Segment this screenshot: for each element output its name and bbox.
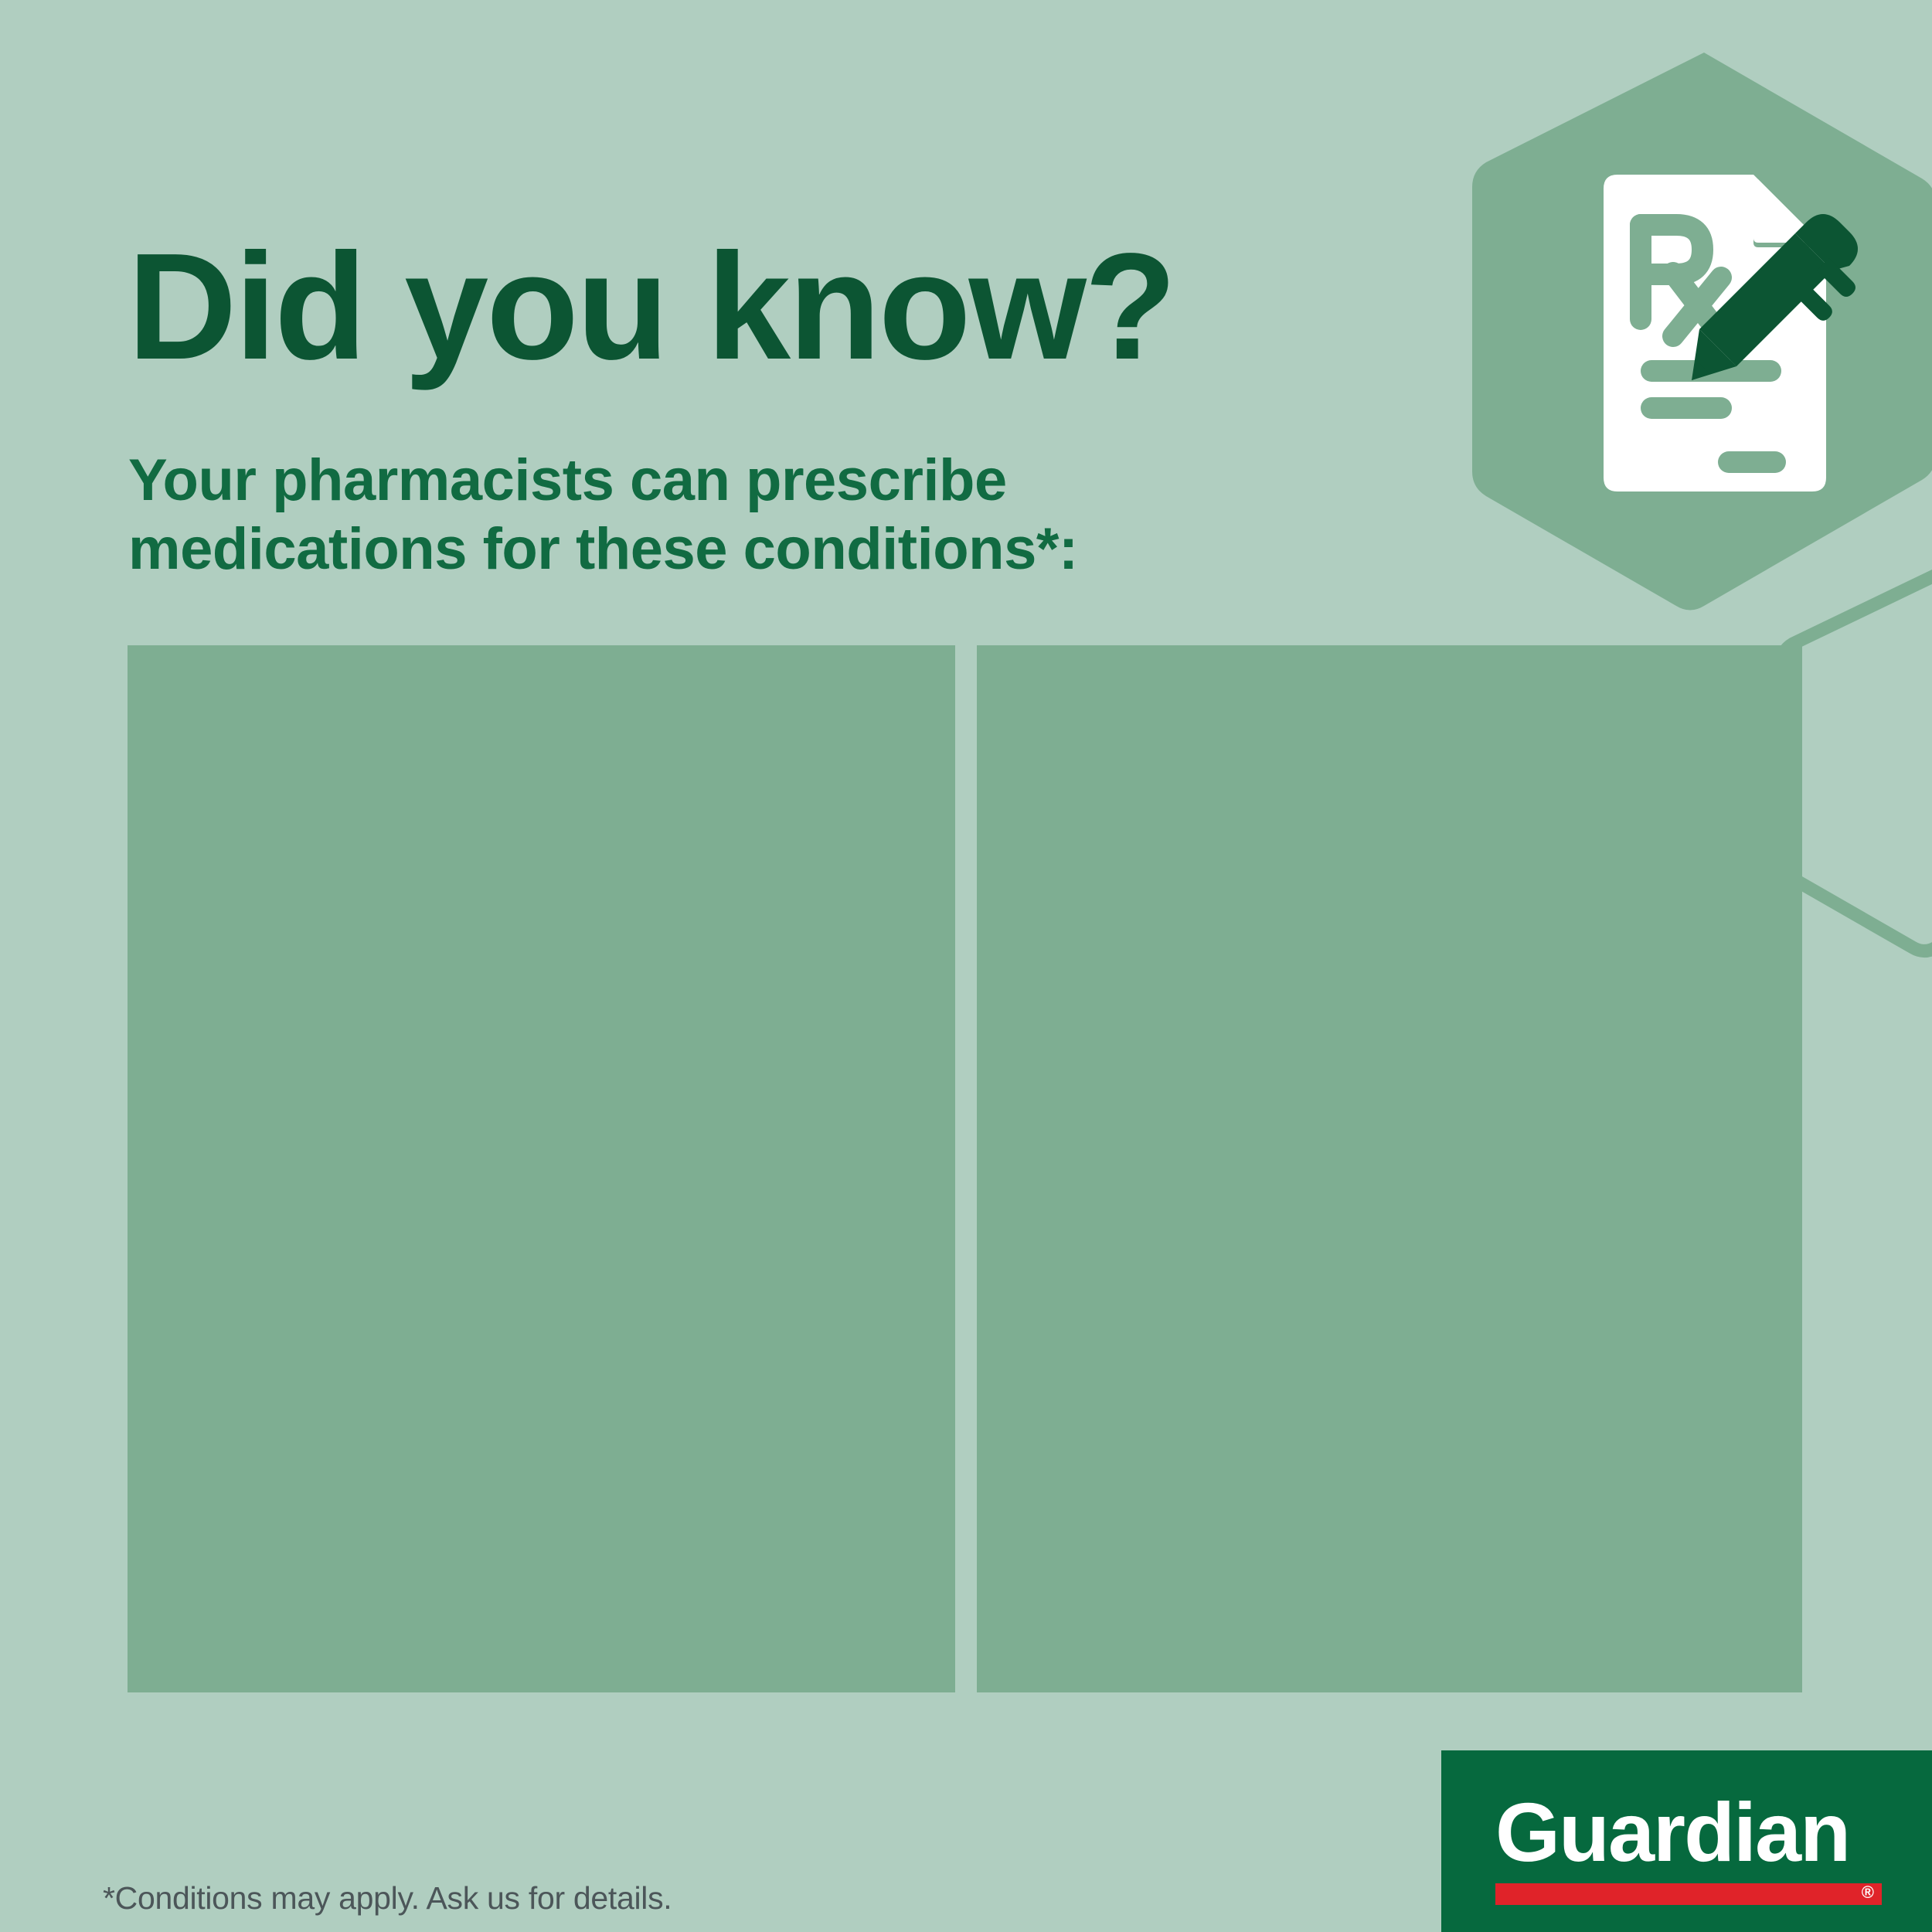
conditions-column-right	[977, 645, 1802, 1692]
page-title: Did you know?	[128, 231, 1175, 383]
guardian-logo: Guardian ®	[1441, 1750, 1932, 1932]
brand-red-rule: ®	[1495, 1883, 1882, 1905]
poster-canvas: Did you know? Your pharmacists can presc…	[0, 0, 1932, 1932]
registered-trademark-icon: ®	[1862, 1882, 1874, 1903]
brand-wordmark: Guardian	[1495, 1791, 1849, 1874]
footnote-disclaimer: *Conditions may apply. Ask us for detail…	[103, 1880, 672, 1917]
page-subheading: Your pharmacists can prescribe medicatio…	[128, 447, 1078, 584]
prescription-badge-icon	[1466, 48, 1932, 611]
conditions-column-left	[128, 645, 955, 1692]
